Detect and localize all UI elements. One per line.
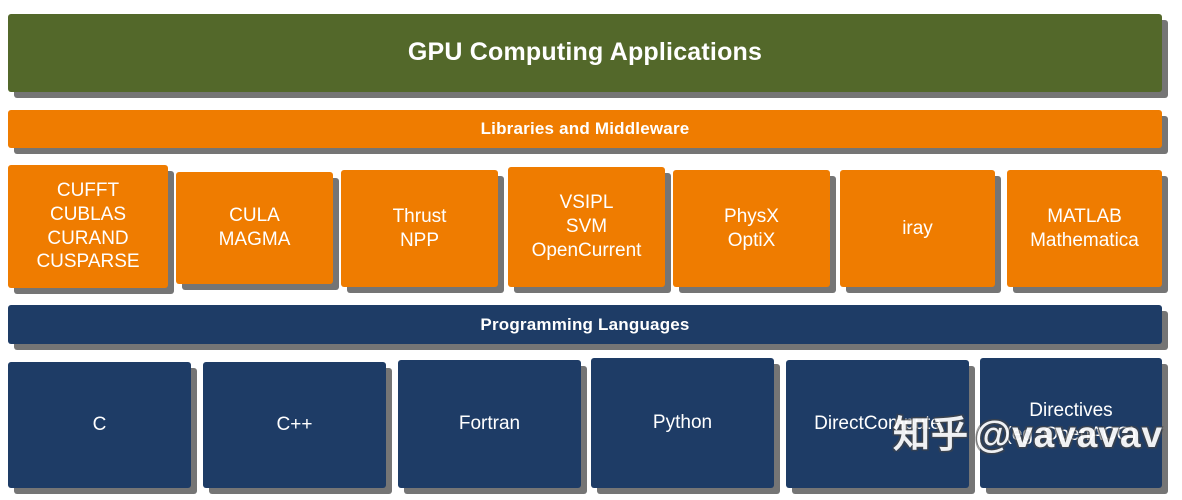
library-tile-iray[interactable]: iray — [840, 170, 995, 287]
library-tile-label: PhysXOptiX — [718, 205, 785, 253]
layer-libraries-banner: Libraries and Middleware — [8, 110, 1162, 148]
library-tile-cufft-cublas-curand-cusparse[interactable]: CUFFTCUBLASCURANDCUSPARSE — [8, 165, 168, 288]
language-tile-cpp[interactable]: C++ — [203, 362, 386, 488]
layer-languages-title: Programming Languages — [474, 314, 695, 335]
gpu-computing-stack-diagram: GPU Computing Applications Libraries and… — [0, 0, 1182, 500]
library-tile-label: CUFFTCUBLASCURANDCUSPARSE — [30, 179, 145, 274]
language-tile-directcompute[interactable]: DirectCompute — [786, 360, 969, 488]
language-tile-fortran[interactable]: Fortran — [398, 360, 581, 488]
library-tile-label: MATLABMathematica — [1024, 205, 1145, 253]
language-tile-directives-openacc[interactable]: Directives(eg. OpenACC) — [980, 358, 1162, 488]
language-tile-label: C — [87, 413, 113, 437]
library-tile-physx-optix[interactable]: PhysXOptiX — [673, 170, 830, 287]
language-tile-c[interactable]: C — [8, 362, 191, 488]
library-tile-cula-magma[interactable]: CULAMAGMA — [176, 172, 333, 284]
language-tile-label: Python — [647, 411, 718, 435]
layer-applications-title: GPU Computing Applications — [402, 37, 768, 68]
library-tile-vsipl-svm-opencurrent[interactable]: VSIPLSVMOpenCurrent — [508, 167, 665, 287]
language-tile-label: Directives(eg. OpenACC) — [1000, 399, 1143, 447]
language-tile-label: Fortran — [453, 412, 526, 436]
language-tile-python[interactable]: Python — [591, 358, 774, 488]
library-tile-label: iray — [896, 217, 939, 241]
layer-libraries-title: Libraries and Middleware — [475, 118, 696, 139]
library-tile-matlab-mathematica[interactable]: MATLABMathematica — [1007, 170, 1162, 287]
library-tile-label: CULAMAGMA — [213, 204, 297, 252]
language-tile-label: DirectCompute — [808, 412, 947, 436]
library-tile-label: VSIPLSVMOpenCurrent — [526, 191, 648, 262]
language-tile-label: C++ — [271, 413, 319, 437]
layer-languages-banner: Programming Languages — [8, 305, 1162, 344]
library-tile-label: ThrustNPP — [387, 205, 453, 253]
library-tile-thrust-npp[interactable]: ThrustNPP — [341, 170, 498, 287]
layer-applications-banner: GPU Computing Applications — [8, 14, 1162, 92]
